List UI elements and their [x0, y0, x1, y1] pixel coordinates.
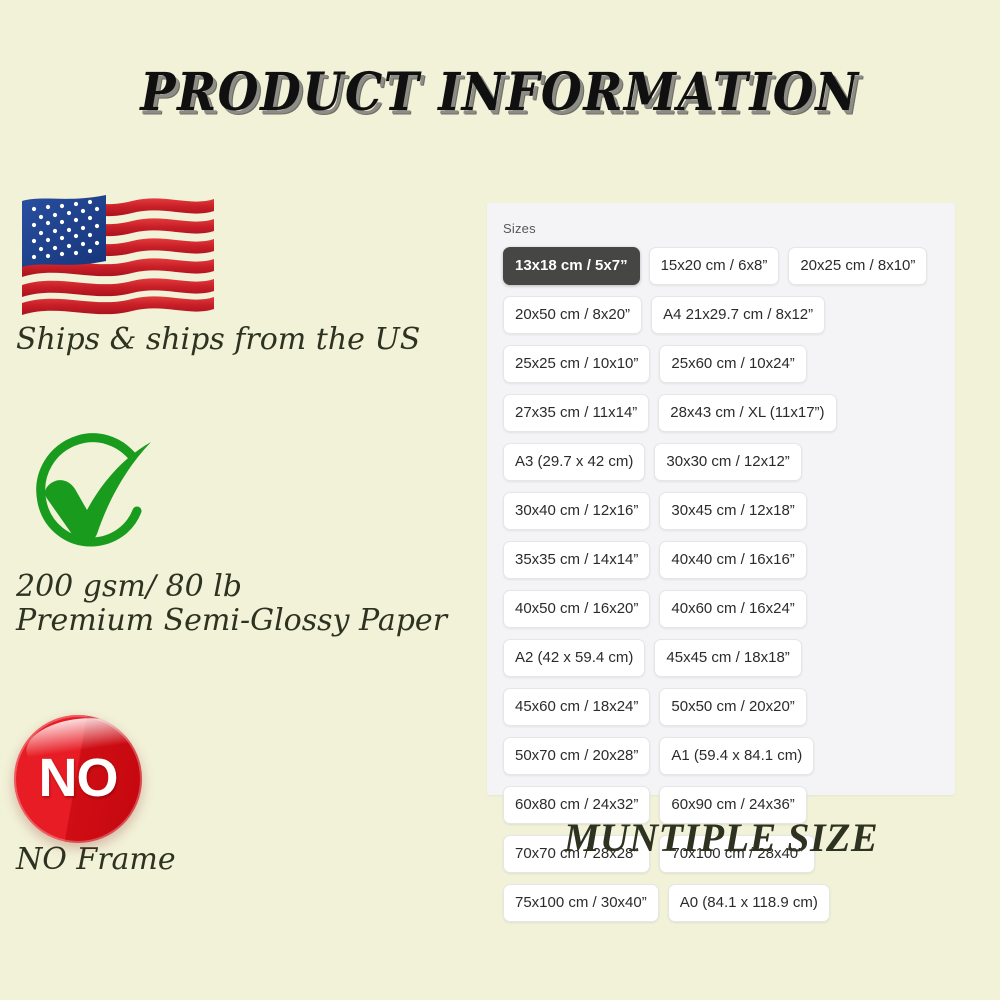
size-chip[interactable]: A1 (59.4 x 84.1 cm)	[659, 737, 814, 775]
size-chip[interactable]: 25x25 cm / 10x10”	[503, 345, 650, 383]
no-badge-icon: NO	[14, 715, 142, 843]
size-chip[interactable]: A4 21x29.7 cm / 8x12”	[651, 296, 825, 334]
size-chip[interactable]: A0 (84.1 x 118.9 cm)	[668, 884, 830, 922]
feature-ships-from-us-label: Ships & ships from the US	[16, 323, 470, 357]
feature-paper-quality-label: 200 gsm/ 80 lb Premium Semi-Glossy Paper	[16, 570, 470, 637]
size-chip[interactable]: A2 (42 x 59.4 cm)	[503, 639, 645, 677]
size-chip[interactable]: 50x70 cm / 20x28”	[503, 737, 650, 775]
multiple-size-caption: MUNTIPLE SIZE	[487, 814, 955, 861]
size-chip[interactable]: 20x50 cm / 8x20”	[503, 296, 642, 334]
sizes-label: Sizes	[503, 221, 939, 236]
size-chip[interactable]: 30x45 cm / 12x18”	[659, 492, 806, 530]
size-chip[interactable]: 45x45 cm / 18x18”	[654, 639, 801, 677]
size-chip[interactable]: 20x25 cm / 8x10”	[788, 247, 927, 285]
page-title: PRODUCT INFORMATION	[0, 62, 1000, 124]
green-check-circle-icon	[14, 430, 164, 570]
size-chip[interactable]: 75x100 cm / 30x40”	[503, 884, 659, 922]
size-chip[interactable]: 30x40 cm / 12x16”	[503, 492, 650, 530]
feature-ships-line1: Ships & ships from the US	[16, 322, 420, 357]
size-chip[interactable]: 30x30 cm / 12x12”	[654, 443, 801, 481]
feature-paper-quality: 200 gsm/ 80 lb Premium Semi-Glossy Paper	[0, 430, 470, 637]
size-chip[interactable]: 15x20 cm / 6x8”	[649, 247, 780, 285]
feature-ships-from-us: Ships & ships from the US	[0, 185, 470, 357]
size-chip[interactable]: 40x60 cm / 16x24”	[659, 590, 806, 628]
size-chip[interactable]: 40x40 cm / 16x16”	[659, 541, 806, 579]
feature-paper-line2: Premium Semi-Glossy Paper	[16, 604, 470, 638]
size-chip[interactable]: 13x18 cm / 5x7”	[503, 247, 640, 285]
size-chip[interactable]: 27x35 cm / 11x14”	[503, 394, 649, 432]
feature-no-frame-line1: NO Frame	[16, 842, 176, 877]
no-badge-text: NO	[14, 715, 142, 843]
size-chip[interactable]: 45x60 cm / 18x24”	[503, 688, 650, 726]
size-chip[interactable]: 28x43 cm / XL (11x17”)	[658, 394, 836, 432]
size-chip[interactable]: 25x60 cm / 10x24”	[659, 345, 806, 383]
sizes-panel: Sizes 13x18 cm / 5x7”15x20 cm / 6x8”20x2…	[487, 203, 955, 795]
us-flag-icon	[14, 185, 224, 323]
size-chip[interactable]: A3 (29.7 x 42 cm)	[503, 443, 645, 481]
size-chip[interactable]: 35x35 cm / 14x14”	[503, 541, 650, 579]
feature-no-frame-label: NO Frame	[16, 843, 470, 877]
size-chip[interactable]: 50x50 cm / 20x20”	[659, 688, 806, 726]
feature-paper-line1: 200 gsm/ 80 lb	[16, 569, 242, 604]
size-chip[interactable]: 40x50 cm / 16x20”	[503, 590, 650, 628]
feature-no-frame: NO NO Frame	[0, 715, 470, 877]
